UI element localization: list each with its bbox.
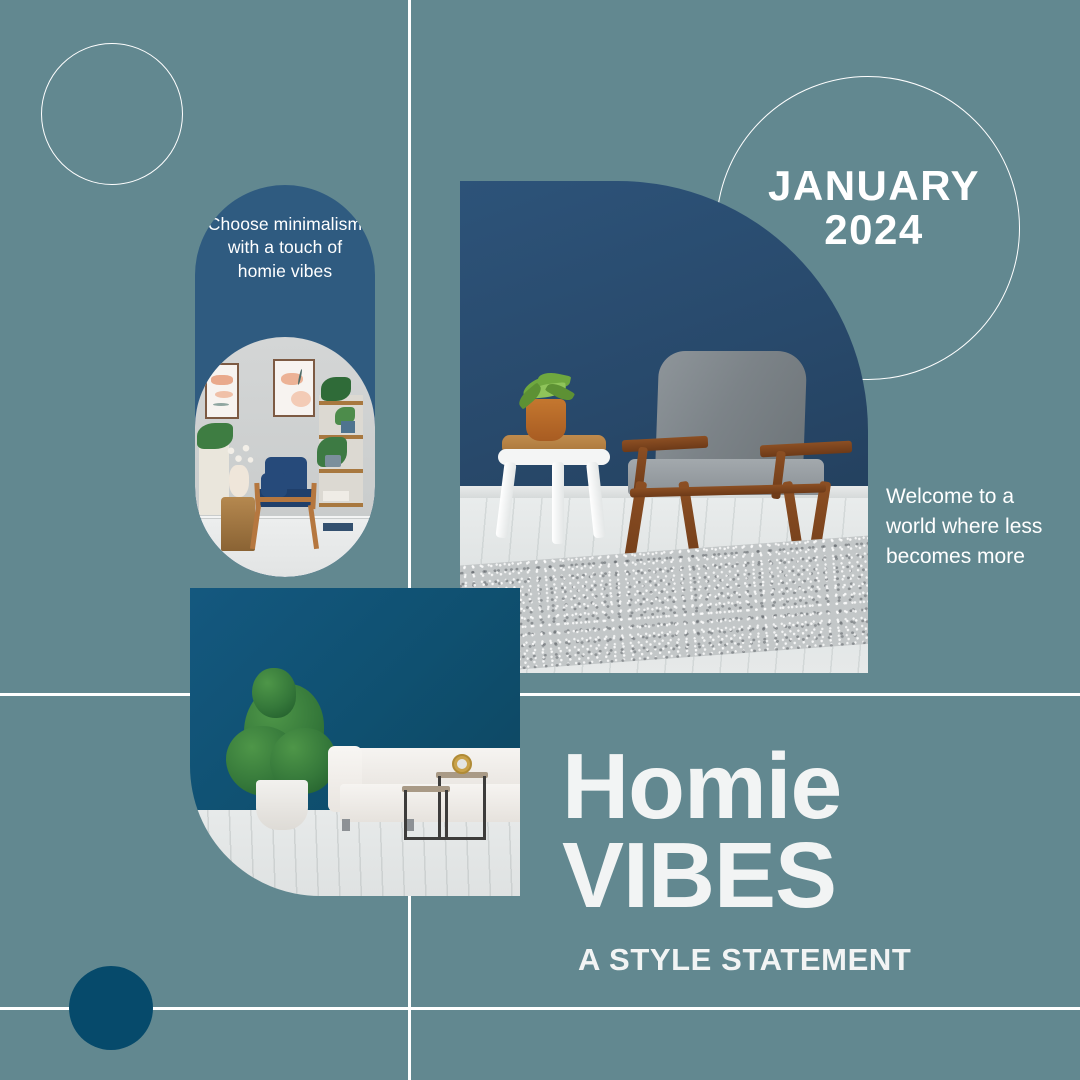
dot-bottom-left-icon (69, 966, 153, 1050)
welcome-note: Welcome to a world where less becomes mo… (886, 482, 1066, 571)
divider-horizontal-mid (0, 693, 1080, 696)
pill-card: Choose minimalism with a touch of homie … (195, 185, 375, 577)
date-badge: January 2024 (744, 164, 1004, 251)
poster-canvas: Choose minimalism with a touch of homie … (0, 0, 1080, 1080)
pill-caption: Choose minimalism with a touch of homie … (195, 213, 375, 283)
page-title: Homie VIBES (562, 742, 1062, 921)
divider-horizontal-bottom (0, 1007, 1080, 1010)
tagline: A Style Statement (578, 942, 1078, 978)
date-badge-month: January (768, 162, 980, 209)
date-badge-year: 2024 (824, 206, 923, 253)
page-title-line2: VIBES (562, 831, 1062, 920)
pill-photo-room (195, 337, 375, 577)
ring-top-left-icon (41, 43, 183, 185)
bottom-photo-sofa (190, 588, 520, 896)
main-photo-armchair (460, 181, 868, 673)
divider-vertical (408, 0, 411, 1080)
